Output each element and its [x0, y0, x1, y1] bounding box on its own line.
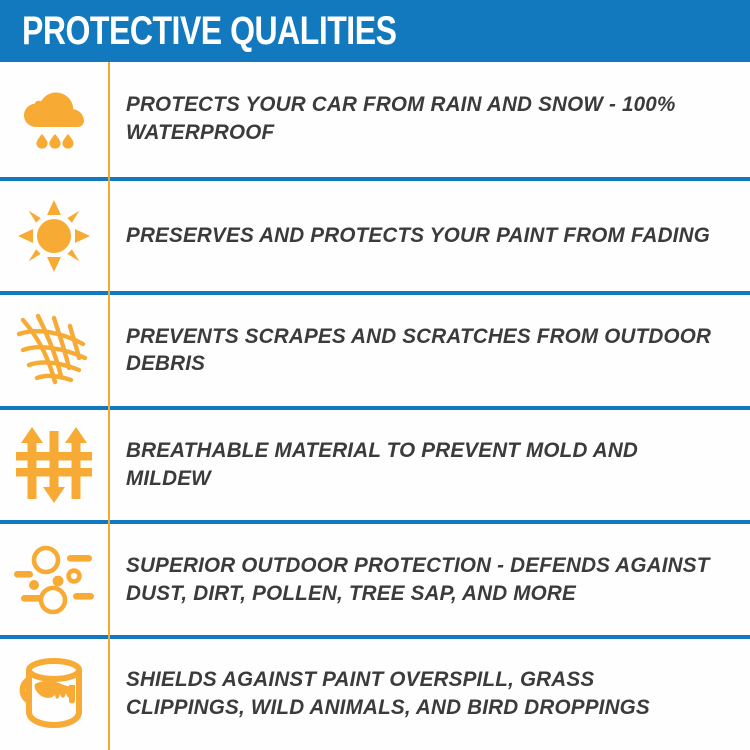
list-item: PROTECTS YOUR CAR FROM RAIN AND SNOW - 1… [0, 62, 750, 177]
text-cell: SHIELDS AGAINST PAINT OVERSPILL, GRASS C… [108, 666, 750, 722]
list-item: SUPERIOR OUTDOOR PROTECTION - DEFENDS AG… [0, 520, 750, 635]
text-cell: PREVENTS SCRAPES AND SCRATCHES FROM OUTD… [108, 323, 750, 379]
list-item-label: PROTECTS YOUR CAR FROM RAIN AND SNOW - 1… [126, 91, 712, 147]
paint-bucket-icon [12, 654, 96, 734]
rain-cloud-icon [14, 79, 94, 159]
text-cell: BREATHABLE MATERIAL TO PREVENT MOLD AND … [108, 437, 750, 493]
list-item-label: SHIELDS AGAINST PAINT OVERSPILL, GRASS C… [126, 666, 712, 722]
page-title: PROTECTIVE QUALITIES [22, 11, 396, 51]
protective-qualities-infographic: PROTECTIVE QUALITIES [0, 0, 750, 750]
sun-icon [14, 196, 94, 276]
dust-particles-icon [12, 540, 96, 620]
list-item-label: PRESERVES AND PROTECTS YOUR PAINT FROM F… [126, 222, 712, 250]
icon-cell [0, 181, 108, 292]
text-cell: PRESERVES AND PROTECTS YOUR PAINT FROM F… [108, 222, 750, 250]
vertical-divider [108, 62, 110, 750]
torn-net-icon [13, 308, 95, 392]
icon-cell [0, 295, 108, 406]
list-item: BREATHABLE MATERIAL TO PREVENT MOLD AND … [0, 406, 750, 521]
header-bar: PROTECTIVE QUALITIES [0, 0, 750, 62]
list-item-label: PREVENTS SCRAPES AND SCRATCHES FROM OUTD… [126, 323, 712, 379]
list-item: PRESERVES AND PROTECTS YOUR PAINT FROM F… [0, 177, 750, 292]
list-item: PREVENTS SCRAPES AND SCRATCHES FROM OUTD… [0, 291, 750, 406]
icon-cell [0, 639, 108, 750]
feature-list: PROTECTS YOUR CAR FROM RAIN AND SNOW - 1… [0, 62, 750, 750]
icon-cell [0, 62, 108, 177]
icon-cell [0, 524, 108, 635]
list-item-label: BREATHABLE MATERIAL TO PREVENT MOLD AND … [126, 437, 712, 493]
list-item-label: SUPERIOR OUTDOOR PROTECTION - DEFENDS AG… [126, 552, 712, 608]
icon-cell [0, 410, 108, 521]
text-cell: SUPERIOR OUTDOOR PROTECTION - DEFENDS AG… [108, 552, 750, 608]
breathable-airflow-icon [14, 423, 94, 507]
text-cell: PROTECTS YOUR CAR FROM RAIN AND SNOW - 1… [108, 91, 750, 147]
list-item: SHIELDS AGAINST PAINT OVERSPILL, GRASS C… [0, 635, 750, 750]
